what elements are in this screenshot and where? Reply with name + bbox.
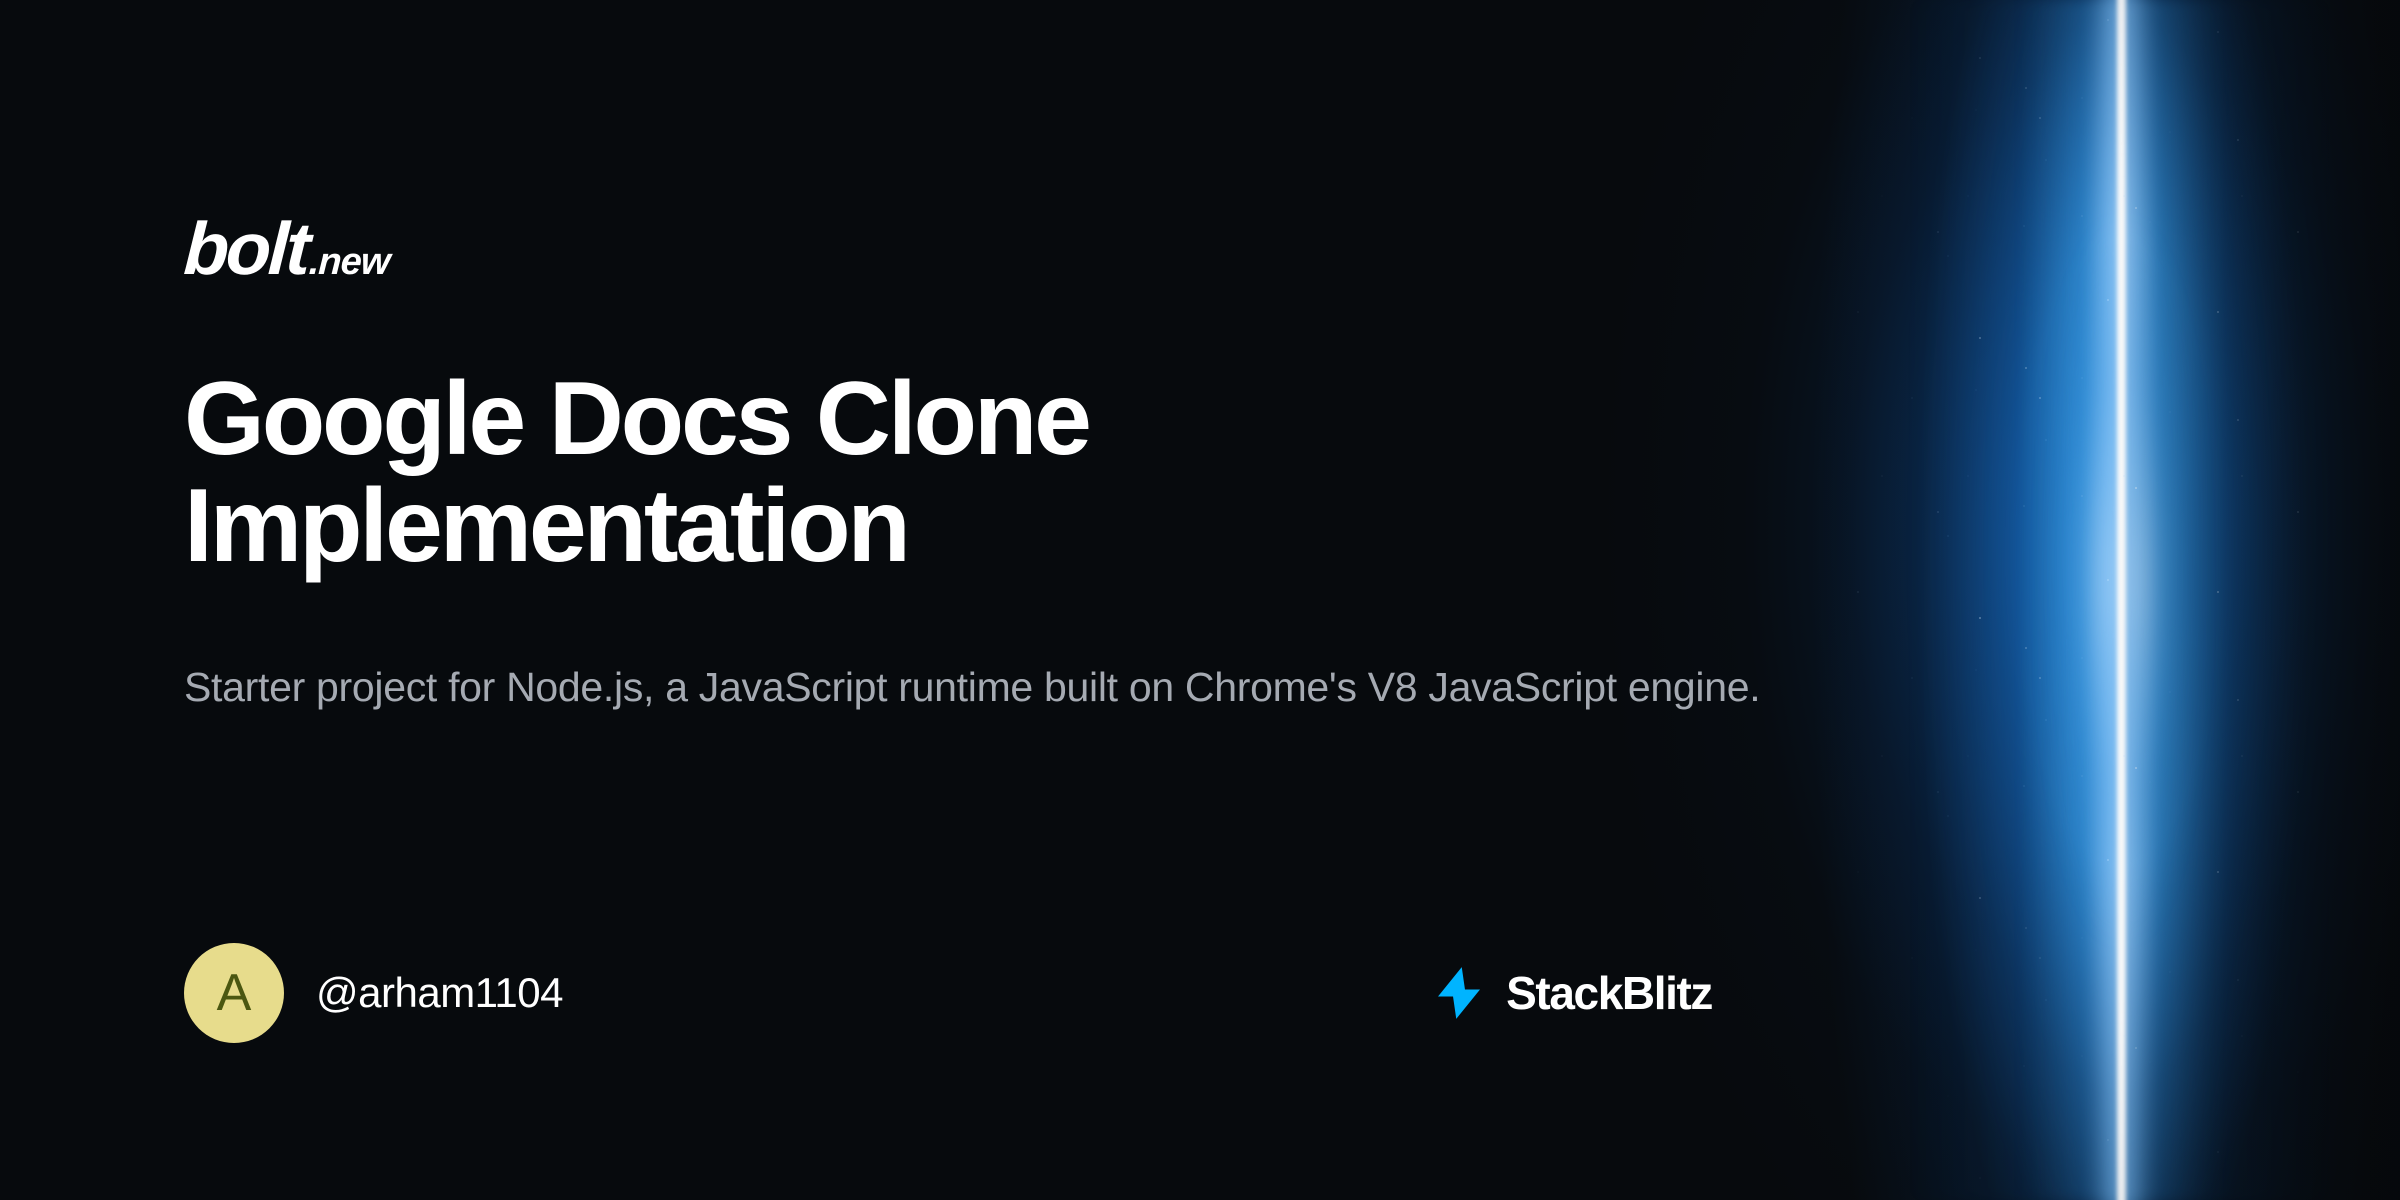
avatar: A <box>184 943 284 1043</box>
logo-wordmark: bolt <box>182 212 309 286</box>
project-description: Starter project for Node.js, a JavaScrip… <box>184 660 1804 714</box>
particle-field-secondary <box>1880 0 2300 1110</box>
author-info[interactable]: A @arham1104 <box>184 943 563 1043</box>
lightning-bolt-icon <box>1438 967 1480 1019</box>
bolt-new-logo[interactable]: bolt .new <box>184 212 389 286</box>
page-title: Google Docs Clone Implementation <box>184 366 1524 580</box>
stackblitz-wordmark: StackBlitz <box>1506 966 1712 1020</box>
card-content: bolt .new Google Docs Clone Implementati… <box>184 0 1884 1200</box>
card-footer: A @arham1104 StackBlitz <box>184 940 1804 1046</box>
logo-tld-suffix: .new <box>308 243 390 281</box>
author-handle: @arham1104 <box>316 969 563 1017</box>
og-preview-card: bolt .new Google Docs Clone Implementati… <box>0 0 2400 1200</box>
stackblitz-brand[interactable]: StackBlitz <box>1438 966 1804 1020</box>
